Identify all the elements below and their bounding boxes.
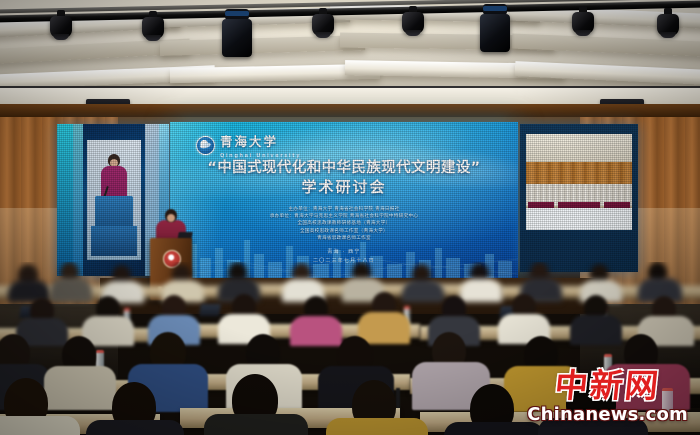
watermark-cn: 中新网 <box>525 369 689 403</box>
audience-body <box>326 418 428 435</box>
right-led-screen <box>520 124 638 272</box>
watermark-en: Chinanews.com <box>527 404 688 425</box>
audience-body <box>358 312 410 344</box>
stage-spotlight <box>310 8 336 38</box>
audience-body <box>50 278 92 302</box>
watermark: 中新网 Chinanews.com <box>527 369 688 425</box>
moving-head-light <box>477 4 513 56</box>
audience-body <box>204 414 308 435</box>
audience-body <box>0 416 80 435</box>
speaker-face <box>167 214 175 222</box>
main-led-screen: 青海大学 Qinghai University “中国式现代化和中华民族现代文明… <box>170 122 518 278</box>
wall-trim <box>0 104 700 117</box>
stage-spotlight <box>140 11 166 41</box>
audience-body <box>570 315 622 345</box>
audience-body <box>402 280 444 302</box>
moving-head-light <box>219 9 255 61</box>
laptop <box>199 304 221 316</box>
stage-spotlight <box>655 8 681 38</box>
stage-spotlight <box>570 6 596 36</box>
audience-body <box>290 316 342 346</box>
audience-body <box>86 420 184 435</box>
audience-body <box>460 279 502 302</box>
screenshot-root: 青海大学 Qinghai University “中国式现代化和中华民族现代文明… <box>0 0 700 435</box>
stage-spotlight <box>48 10 74 40</box>
stage-spotlight <box>400 6 426 36</box>
audience-body <box>44 366 116 410</box>
